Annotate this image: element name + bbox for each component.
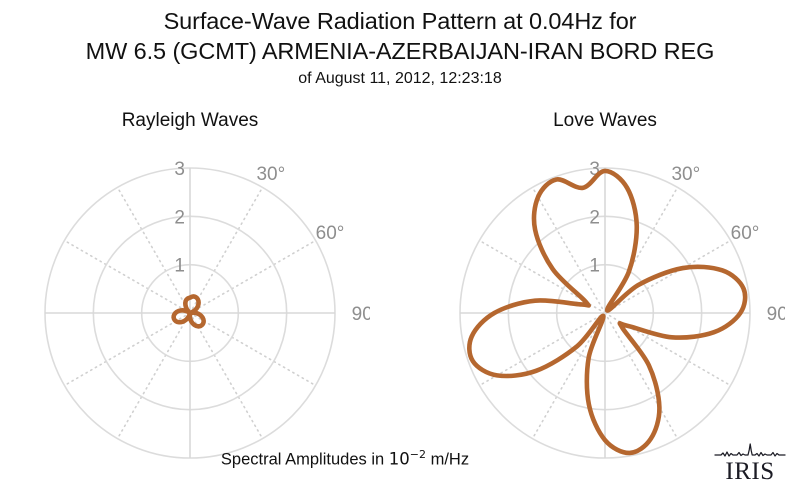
radial-tick-label: 2 — [589, 207, 600, 228]
polar-chart-rayleigh: 12330°60°90° — [10, 140, 370, 460]
radial-tick-label: 1 — [589, 256, 600, 277]
angular-tick-label: 30° — [671, 164, 700, 185]
title-line-1: Surface-Wave Radiation Pattern at 0.04Hz… — [0, 6, 800, 36]
caption-base: 10 — [389, 450, 410, 469]
radiation-pattern-curve — [469, 171, 745, 453]
caption-suffix: m/Hz — [426, 451, 469, 469]
grid-spoke — [190, 313, 316, 386]
panel-title-rayleigh: Rayleigh Waves — [10, 110, 370, 132]
grid-spoke — [118, 187, 191, 313]
title-line-2: MW 6.5 (GCMT) ARMENIA-AZERBAIJAN-IRAN BO… — [0, 36, 800, 66]
angular-tick-label: 90° — [767, 304, 785, 325]
page-title: Surface-Wave Radiation Pattern at 0.04Hz… — [0, 6, 800, 92]
iris-logo: IRIS — [707, 443, 793, 487]
radial-tick-label: 2 — [174, 207, 185, 228]
grid-spoke — [64, 241, 190, 314]
polar-plot-love: Love Waves 12330°60°90° — [425, 110, 785, 460]
grid-spoke — [190, 187, 263, 313]
angular-tick-label: 90° — [352, 304, 370, 325]
polar-chart-love: 12330°60°90° — [425, 140, 785, 460]
radial-tick-label: 3 — [174, 159, 185, 180]
caption-prefix: Spectral Amplitudes in — [221, 451, 389, 469]
grid-spoke — [605, 241, 731, 314]
grid-spoke — [190, 313, 263, 439]
iris-logo-text: IRIS — [707, 459, 793, 484]
radial-tick-label: 1 — [174, 256, 185, 277]
angular-tick-label: 30° — [256, 164, 285, 185]
polar-plot-rayleigh: Rayleigh Waves 12330°60°90° — [10, 110, 370, 460]
angular-tick-label: 60° — [731, 223, 760, 244]
radiation-pattern-curve — [174, 296, 204, 326]
grid-spoke — [118, 313, 191, 439]
grid-spoke — [64, 313, 190, 386]
angular-tick-label: 60° — [316, 223, 345, 244]
title-line-3: of August 11, 2012, 12:23:18 — [0, 66, 800, 92]
grid-spoke — [190, 241, 316, 314]
panel-title-love: Love Waves — [425, 110, 785, 132]
footer-caption: Spectral Amplitudes in 10−2 m/Hz — [0, 448, 690, 470]
caption-exponent: −2 — [410, 448, 426, 461]
